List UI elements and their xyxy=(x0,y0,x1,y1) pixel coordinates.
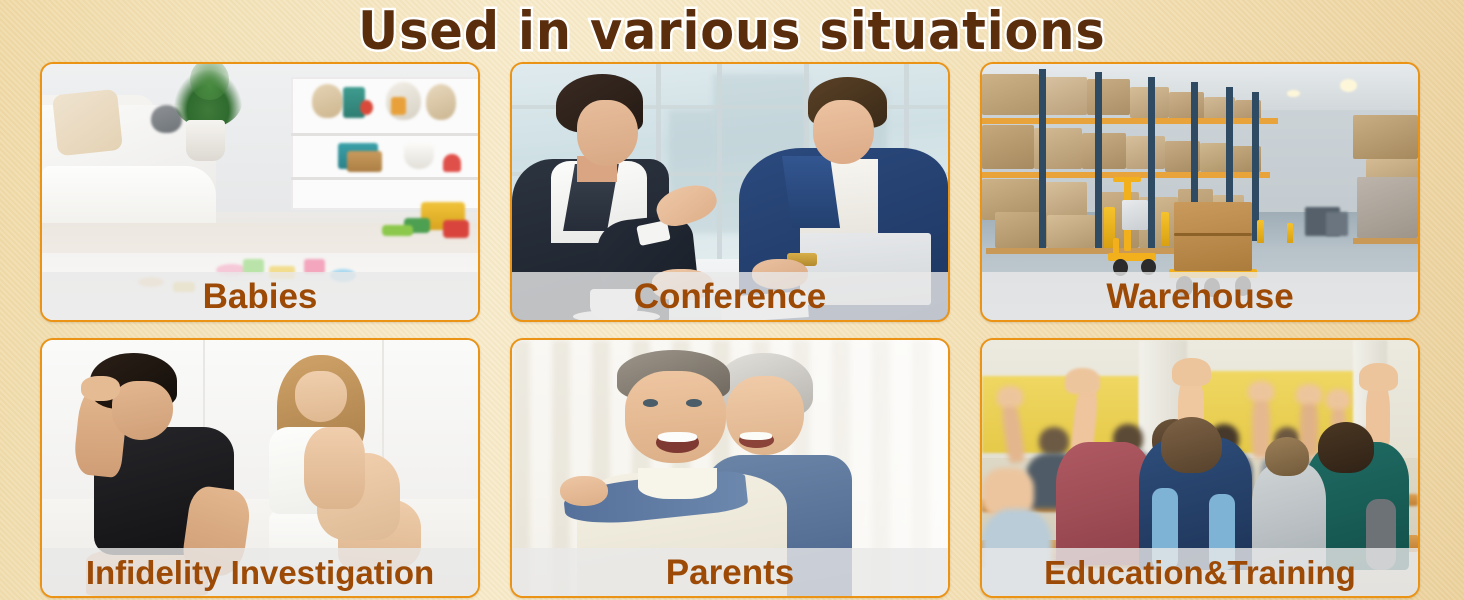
situation-card-parents[interactable]: Parents xyxy=(510,338,950,598)
card-caption-education-training: Education&Training xyxy=(982,548,1418,596)
situation-card-conference[interactable]: Conference xyxy=(510,62,950,322)
caption-text: Education&Training xyxy=(1044,556,1356,589)
situation-card-education-training[interactable]: Education&Training xyxy=(980,338,1420,598)
situation-card-warehouse[interactable]: Warehouse xyxy=(980,62,1420,322)
caption-text: Babies xyxy=(203,279,318,314)
page-title-bar: Used in various situations xyxy=(0,0,1464,62)
page-title: Used in various situations xyxy=(358,1,1106,62)
caption-text: Conference xyxy=(634,279,827,314)
card-caption-conference: Conference xyxy=(512,272,948,320)
card-caption-warehouse: Warehouse xyxy=(982,272,1418,320)
caption-text: Warehouse xyxy=(1106,279,1293,314)
situation-card-infidelity-investigation[interactable]: Infidelity Investigation xyxy=(40,338,480,598)
card-caption-babies: Babies xyxy=(42,272,478,320)
caption-text: Infidelity Investigation xyxy=(86,556,434,589)
caption-text: Parents xyxy=(666,555,794,590)
card-caption-parents: Parents xyxy=(512,548,948,596)
situation-card-grid: Babies xyxy=(40,62,1424,600)
situation-card-babies[interactable]: Babies xyxy=(40,62,480,322)
card-caption-infidelity-investigation: Infidelity Investigation xyxy=(42,548,478,596)
